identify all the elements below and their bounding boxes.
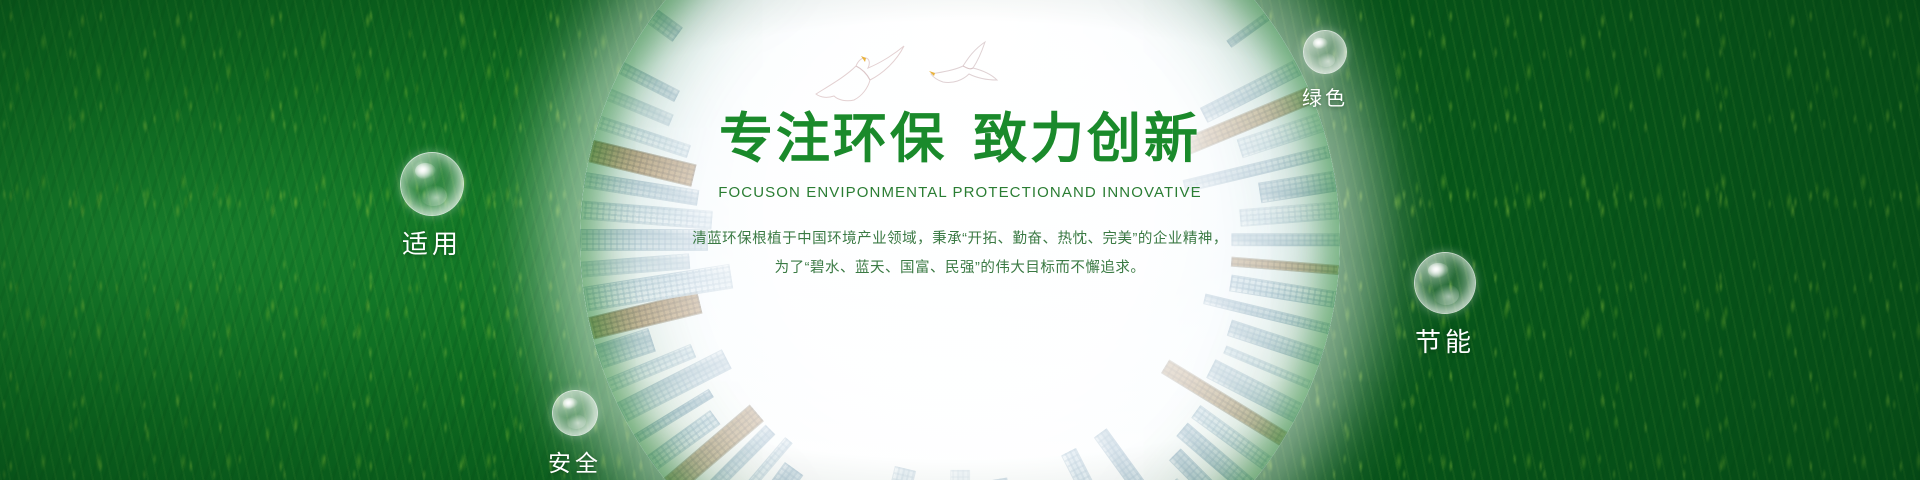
bubble-label: 安全 <box>548 444 602 478</box>
bubble-icon <box>400 152 464 216</box>
page-subtitle: FOCUSON ENVIPONMENTAL PROTECTIONAND INNO… <box>550 184 1370 201</box>
title-part-1: 专注环保 <box>719 109 947 169</box>
feature-bubble-lvse: 绿色 <box>1302 30 1348 111</box>
title-part-2: 致力创新 <box>973 109 1201 169</box>
bubble-label: 适用 <box>400 224 464 261</box>
bubble-icon <box>1414 252 1476 314</box>
bubble-icon <box>552 390 598 436</box>
banner-description: 清蓝环保根植于中国环境产业领域，秉承“开拓、勤奋、热忱、完美”的企业精神， 为了… <box>550 225 1370 283</box>
description-line-1: 清蓝环保根植于中国环境产业领域，秉承“开拓、勤奋、热忱、完美”的企业精神， <box>550 225 1370 254</box>
feature-bubble-anquan: 安全 <box>548 390 602 478</box>
seagull-right-icon <box>925 40 1003 97</box>
description-line-2: 为了“碧水、蓝天、国富、民强”的伟大目标而不懈追求。 <box>550 254 1370 283</box>
page-title: 专注环保致力创新 <box>550 108 1370 172</box>
seagull-left-icon <box>812 44 908 111</box>
feature-bubble-jieneng: 节能 <box>1414 252 1476 359</box>
feature-bubble-shiyong: 适用 <box>400 152 464 261</box>
banner-copy: 专注环保致力创新 FOCUSON ENVIPONMENTAL PROTECTIO… <box>550 108 1370 283</box>
bubble-label: 节能 <box>1414 322 1476 359</box>
bubble-icon <box>1303 30 1347 74</box>
hero-banner: 专注环保致力创新 FOCUSON ENVIPONMENTAL PROTECTIO… <box>0 0 1920 480</box>
bubble-label: 绿色 <box>1302 82 1348 111</box>
